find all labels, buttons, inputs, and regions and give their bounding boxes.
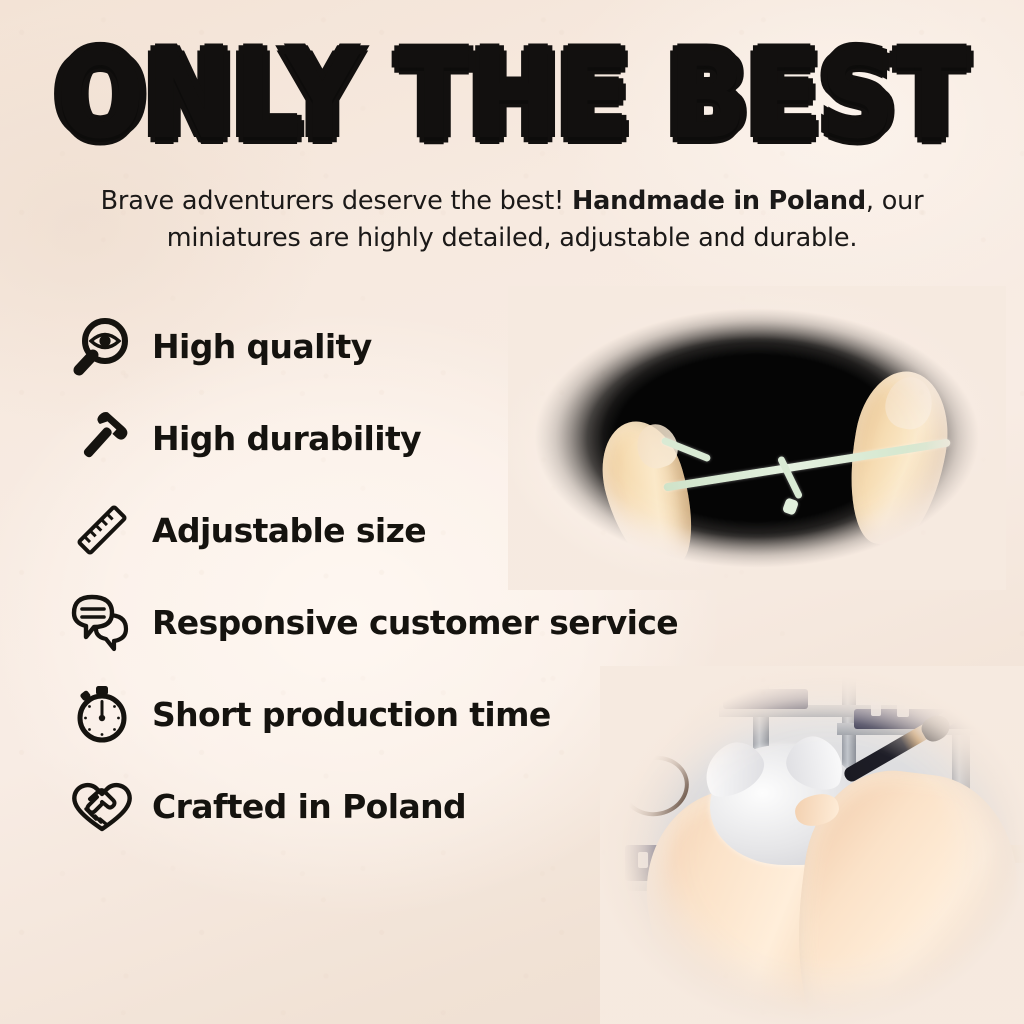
list-item-label: Responsive customer service: [152, 603, 678, 642]
miniature-tray: [723, 689, 808, 709]
tray-miniature: [638, 852, 648, 868]
list-item-label: Crafted in Poland: [152, 787, 466, 826]
ruler-icon: [56, 490, 148, 570]
list-item-label: High quality: [152, 327, 372, 366]
headline-container: ONLY THE BEST: [0, 36, 1024, 142]
subtitle-lead: Brave adventurers deserve the best!: [101, 186, 572, 216]
magnifier-eye-icon: [56, 306, 148, 386]
photo-inner: [508, 286, 1006, 590]
tray-miniature: [897, 704, 909, 717]
subtitle-highlight: Handmade in Poland: [572, 186, 866, 216]
miniature-part-loop: [508, 286, 542, 320]
speech-bubbles-icon: [56, 582, 148, 662]
tray-miniature: [871, 702, 881, 716]
subtitle: Brave adventurers deserve the best! Hand…: [62, 183, 962, 257]
poster-canvas: ONLY THE BEST Brave adventurers deserve …: [0, 0, 1024, 1024]
list-item-label: Adjustable size: [152, 511, 426, 550]
photo-flexible-miniature: [508, 286, 1006, 590]
hammer-icon: [56, 398, 148, 478]
photo-inner: [600, 666, 1024, 1024]
page-title: ONLY THE BEST: [56, 36, 968, 159]
list-item-label: Short production time: [152, 695, 551, 734]
photo-workshop-painting: [600, 666, 1024, 1024]
handshake-heart-icon: [56, 766, 148, 846]
list-item-label: High durability: [152, 419, 421, 458]
stopwatch-icon: [56, 674, 148, 754]
